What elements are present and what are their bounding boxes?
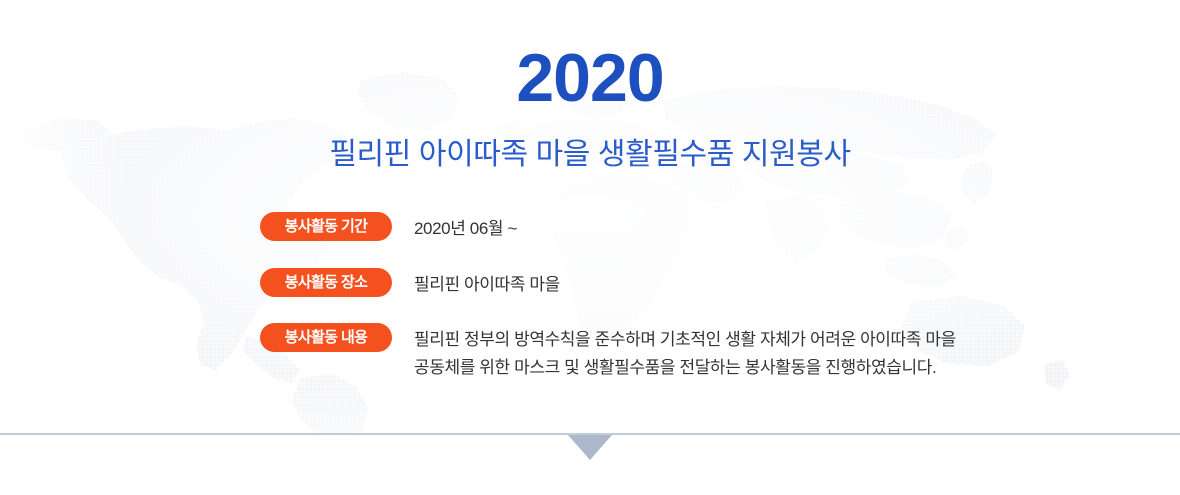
activity-location-value: 필리핀 아이따족 마을	[414, 268, 1140, 299]
scroll-down-arrow-icon	[568, 435, 612, 460]
page-title-year: 2020	[0, 44, 1180, 112]
table-row: 봉사활동 기간 2020년 06월 ~	[260, 212, 1140, 243]
activity-info-table: 봉사활동 기간 2020년 06월 ~ 봉사활동 장소 필리핀 아이따족 마을 …	[260, 212, 1140, 381]
activity-description-value: 필리핀 정부의 방역수칙을 준수하며 기초적인 생활 자체가 어려운 아이따족 …	[414, 323, 1140, 381]
volunteer-activity-banner: 2020 필리핀 아이따족 마을 생활필수품 지원봉사 봉사활동 기간 2020…	[0, 0, 1180, 495]
activity-period-value: 2020년 06월 ~	[414, 212, 1140, 243]
status-badge-location: 봉사활동 장소	[260, 268, 392, 297]
status-badge-period: 봉사활동 기간	[260, 212, 392, 241]
table-row: 봉사활동 내용 필리핀 정부의 방역수칙을 준수하며 기초적인 생활 자체가 어…	[260, 323, 1140, 381]
banner-content: 2020 필리핀 아이따족 마을 생활필수품 지원봉사 봉사활동 기간 2020…	[0, 0, 1180, 495]
status-badge-description: 봉사활동 내용	[260, 323, 392, 352]
table-row: 봉사활동 장소 필리핀 아이따족 마을	[260, 268, 1140, 299]
page-subtitle: 필리핀 아이따족 마을 생활필수품 지원봉사	[0, 136, 1180, 174]
